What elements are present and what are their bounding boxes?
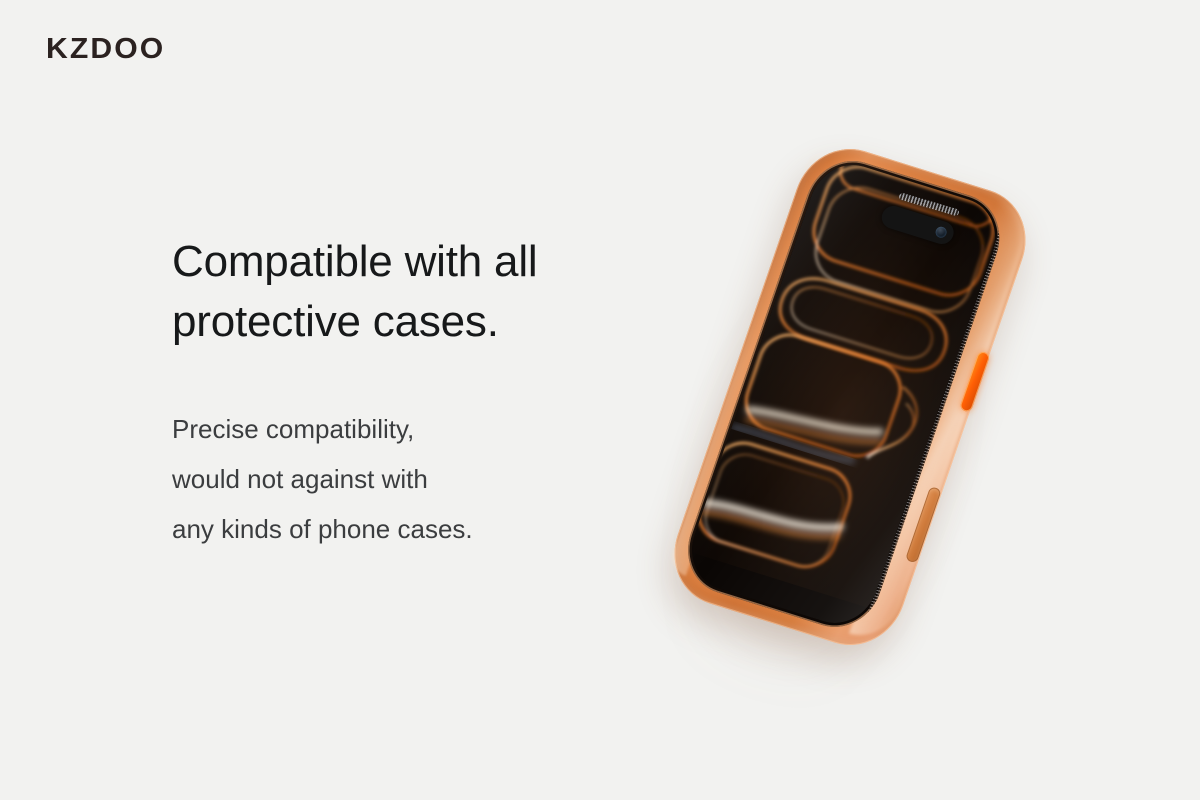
brand-logo: KZDOO [46,34,161,64]
marketing-banner: KZDOO Compatible with all protective cas… [0,0,1200,800]
headline: Compatible with all protective cases. [172,232,602,352]
brand-logo-text: KZDOO [46,35,165,64]
phone-device [660,136,1041,659]
front-camera-lens-icon [934,225,948,239]
subcopy: Precise compatibility, would not against… [172,352,602,554]
product-image [640,120,1060,700]
copy-block: Compatible with all protective cases. Pr… [172,232,602,554]
